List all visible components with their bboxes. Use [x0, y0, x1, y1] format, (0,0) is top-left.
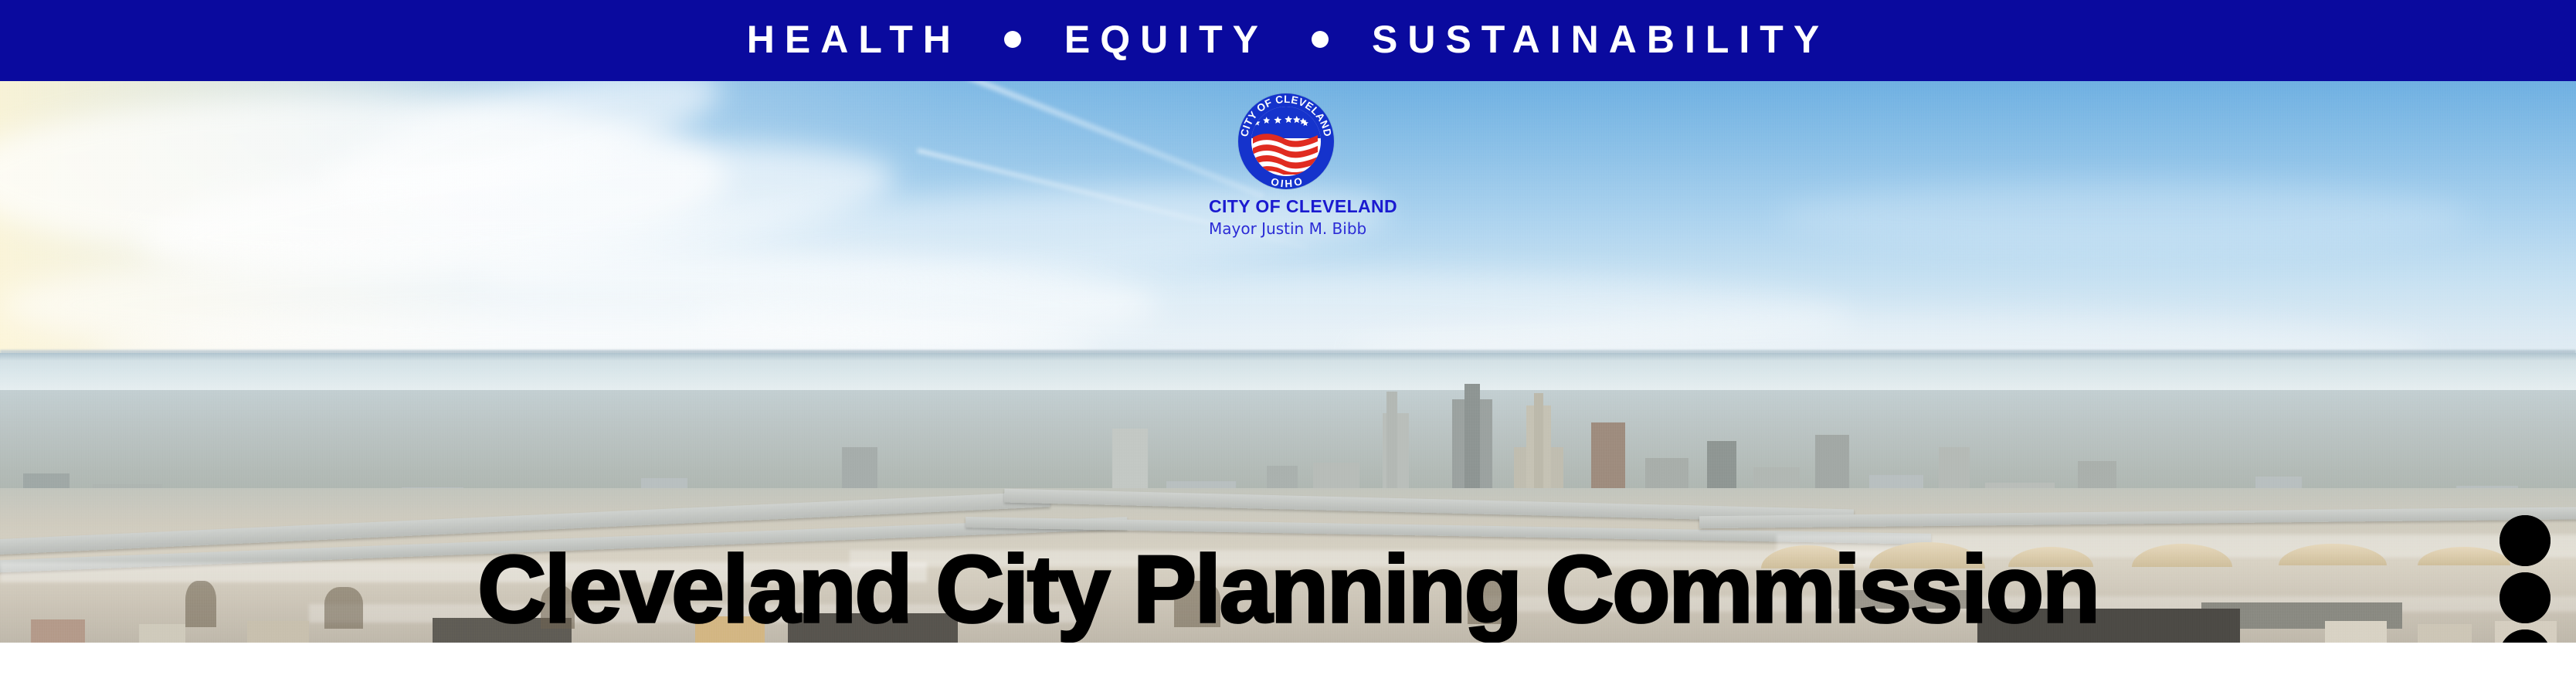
- city-logo-lockup[interactable]: CITY OF CLEVELAND OHIO: [1209, 93, 1363, 238]
- bullet-dot-icon: [1312, 31, 1329, 48]
- tagline-banner: HEALTH EQUITY SUSTAINABILITY: [0, 0, 2576, 81]
- instagram-icon[interactable]: [2500, 572, 2551, 623]
- seal-inner-disc: [1251, 107, 1321, 176]
- hero-photo: CITY OF CLEVELAND OHIO: [0, 81, 2576, 643]
- mayor-name: Mayor Justin M. Bibb: [1209, 219, 1363, 238]
- page-bottom-whitespace: [0, 643, 2576, 682]
- seal-flag-icon: [1251, 131, 1321, 175]
- org-name: CITY OF CLEVELAND: [1209, 196, 1363, 217]
- page-title: Cleveland City Planning Commission: [0, 542, 2576, 637]
- bullet-dot-icon: [1004, 31, 1021, 48]
- social-links: [2500, 515, 2551, 643]
- svg-text:OHIO: OHIO: [1269, 175, 1304, 189]
- tagline-word-equity: EQUITY: [1064, 17, 1268, 62]
- youtube-icon[interactable]: [2500, 515, 2551, 566]
- tagline-word-health: HEALTH: [747, 17, 961, 62]
- tagline-inner: HEALTH EQUITY SUSTAINABILITY: [747, 17, 1829, 62]
- facebook-icon[interactable]: [2500, 629, 2551, 643]
- tagline-word-sustainability: SUSTAINABILITY: [1372, 17, 1829, 62]
- city-of-cleveland-seal-icon: CITY OF CLEVELAND OHIO: [1238, 93, 1334, 189]
